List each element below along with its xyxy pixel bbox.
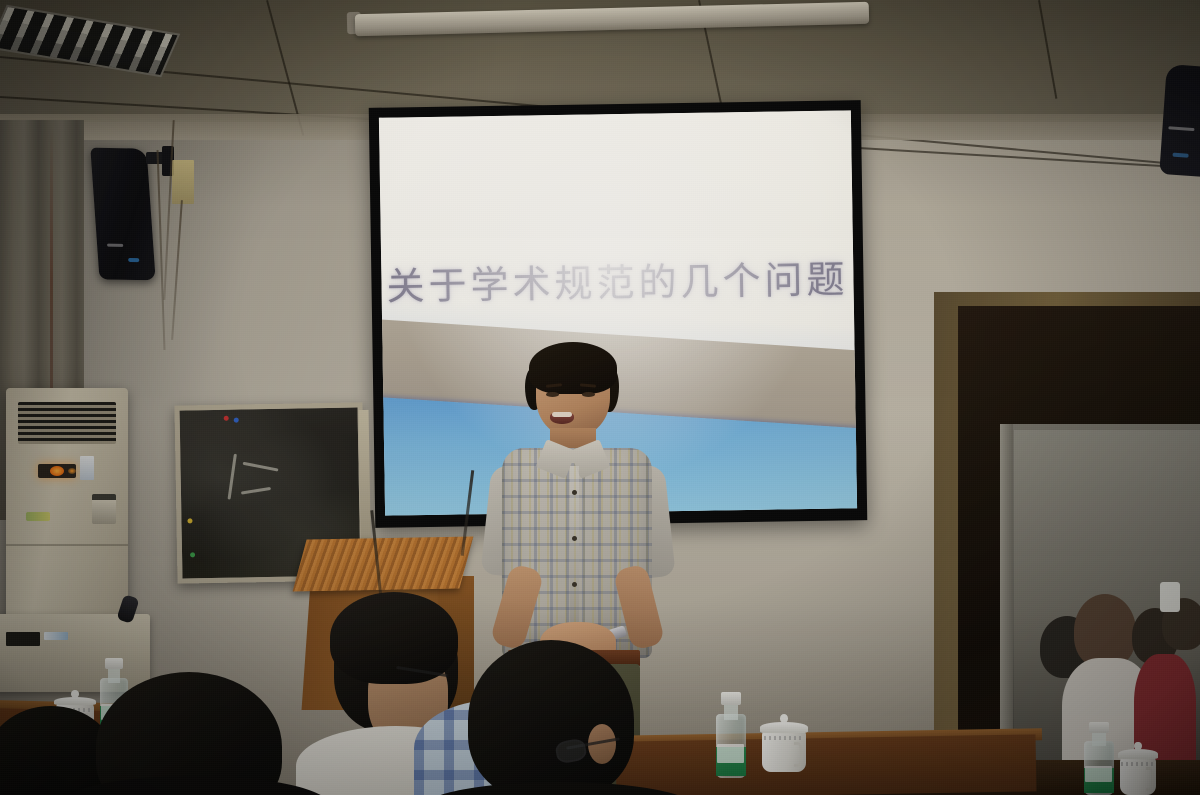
wall-electrical-box [92, 494, 116, 524]
teacup-knob [1134, 742, 1141, 750]
speaker-led [1172, 153, 1188, 158]
water-bottle[interactable] [716, 692, 746, 778]
teacup-handle [1146, 767, 1154, 790]
bottle-neck [1092, 731, 1105, 746]
bottle-label-text [717, 744, 744, 763]
tea-cup[interactable] [762, 714, 806, 772]
presenter-eye [582, 392, 595, 397]
wall-junction-box [172, 160, 194, 204]
attendee-head [468, 640, 634, 795]
table-right [616, 734, 1037, 795]
wall-speaker-left [90, 148, 155, 281]
board-pin [190, 552, 195, 557]
board-pin [187, 518, 192, 523]
person-outside [1074, 594, 1136, 668]
board-pin [234, 418, 239, 423]
presenter-teeth [552, 412, 572, 417]
slide-title: 关于学术规范的几个问题 [381, 248, 854, 310]
wall-speaker-right [1159, 64, 1200, 178]
presenter-shirt-button [572, 582, 577, 587]
teacup-lid [54, 697, 96, 706]
ac-display-glow [68, 468, 76, 474]
teacup-lid [1118, 749, 1158, 759]
teacup-knob [71, 690, 79, 698]
ac-panel-seam [6, 544, 128, 546]
bottle-neck [724, 703, 737, 720]
bottle-neck [108, 668, 120, 683]
ac-logo-sticker [26, 512, 50, 521]
teacup-decoration [1121, 762, 1154, 766]
speaker-led [128, 258, 139, 262]
ac-vent-grille [18, 402, 116, 444]
speaker-highlight [1168, 126, 1194, 131]
presenter-eye [546, 392, 559, 397]
presenter-shirt-button [572, 536, 577, 541]
attendee-hair [330, 592, 458, 684]
board-pin [224, 416, 229, 421]
cabinet-brand-sticker [44, 632, 68, 640]
speaker-highlight [107, 244, 123, 247]
ac-display-glow [50, 466, 64, 476]
ac-label-sticker [80, 456, 94, 480]
presenter-shirt-button [572, 490, 577, 495]
cabinet-nameplate [6, 632, 40, 646]
podium-top [293, 537, 474, 592]
teacup-lid [760, 722, 808, 732]
teacup-decoration [764, 736, 804, 740]
presenter-hair [529, 342, 617, 394]
bottle-cap [721, 692, 740, 705]
bottle-cap [1089, 722, 1108, 733]
water-bottle[interactable] [1084, 722, 1114, 795]
tea-cup[interactable] [1120, 742, 1156, 795]
bottle-label-text [1085, 766, 1112, 782]
bottle-cap [105, 658, 123, 669]
lecture-hall-photo: 关于学术规范的几个问题 [0, 0, 1200, 795]
phone-held-up [1160, 582, 1180, 612]
